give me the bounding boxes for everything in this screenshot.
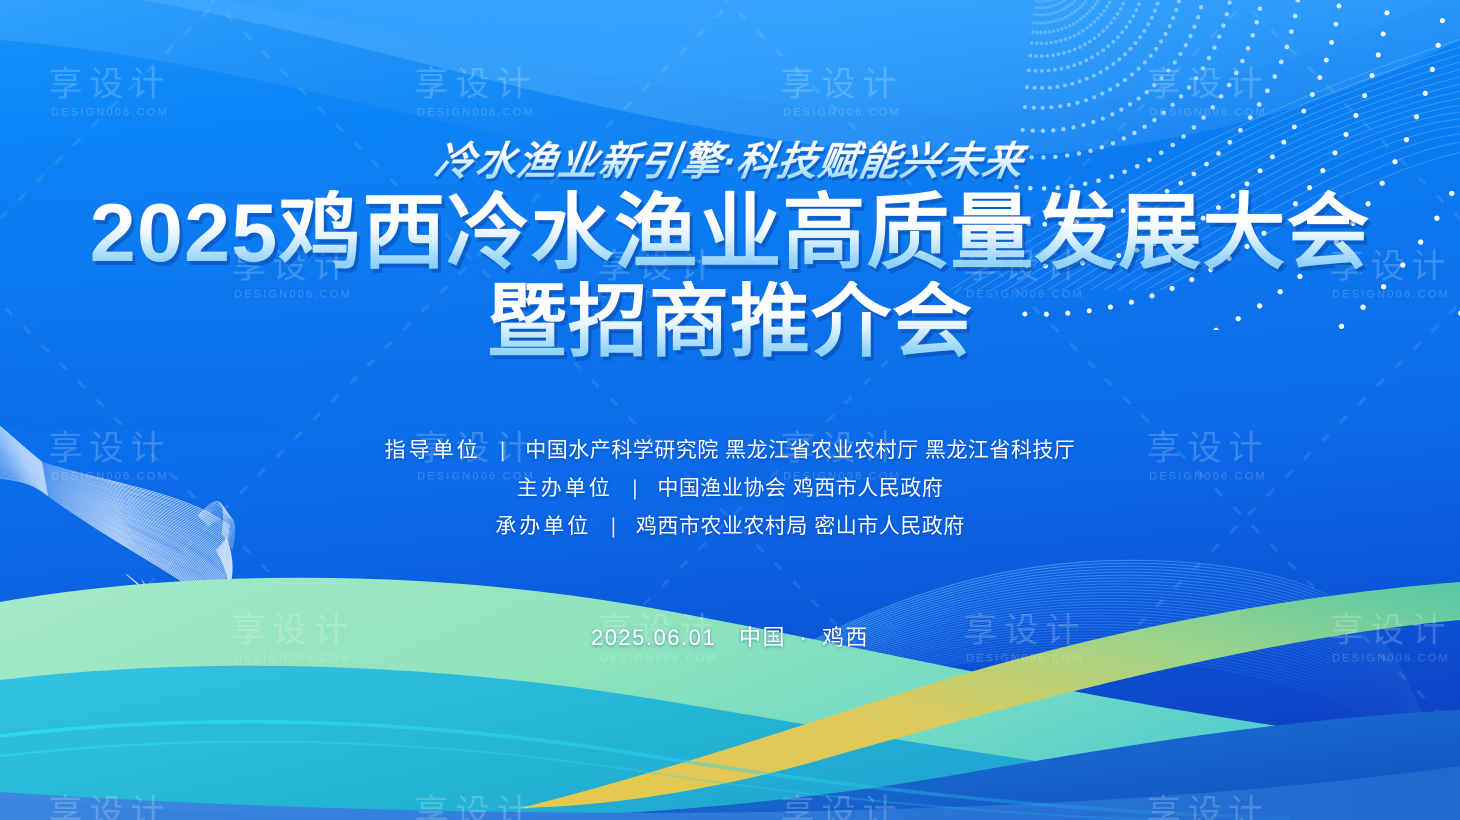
organizer-label: 承办单位 (495, 515, 591, 538)
organizer-separator: | (619, 478, 651, 499)
location-dot-separator: · (794, 625, 815, 650)
event-date: 2025.06.01 (591, 625, 716, 650)
organizer-row: 指导单位 | 中国水产科学研究院 黑龙江省农业农村厅 黑龙江省科技厅 (0, 440, 1460, 461)
event-date-location: 2025.06.01 中国 · 鸡西 (0, 620, 1460, 652)
organizer-value: 中国渔业协会 鸡西市人民政府 (657, 477, 943, 500)
organizer-list: 指导单位 | 中国水产科学研究院 黑龙江省农业农村厅 黑龙江省科技厅 主办单位 … (0, 440, 1460, 554)
organizer-label: 指导单位 (385, 439, 481, 462)
poster-content: 冷水渔业新引擎·科技赋能兴未来 2025鸡西冷水渔业高质量发展大会 暨招商推介会… (0, 0, 1460, 820)
organizer-row: 承办单位 | 鸡西市农业农村局 密山市人民政府 (0, 516, 1460, 537)
organizer-row: 主办单位 | 中国渔业协会 鸡西市人民政府 (0, 478, 1460, 499)
organizer-value: 中国水产科学研究院 黑龙江省农业农村厅 黑龙江省科技厅 (525, 439, 1075, 462)
organizer-label: 主办单位 (517, 477, 613, 500)
poster-title: 2025鸡西冷水渔业高质量发展大会 暨招商推介会 (0, 190, 1460, 364)
conference-poster: 享设计DESIGN006.COM享设计DESIGN006.COM享设计DESIG… (0, 0, 1460, 820)
organizer-separator: | (598, 516, 630, 537)
poster-title-line-2: 暨招商推介会 (0, 281, 1460, 363)
poster-title-line-1: 2025鸡西冷水渔业高质量发展大会 (0, 190, 1460, 275)
event-country: 中国 (739, 625, 786, 650)
poster-subtitle: 冷水渔业新引擎·科技赋能兴未来 (0, 129, 1460, 187)
organizer-value: 鸡西市农业农村局 密山市人民政府 (636, 515, 965, 538)
event-city: 鸡西 (822, 625, 869, 650)
organizer-separator: | (487, 440, 519, 461)
